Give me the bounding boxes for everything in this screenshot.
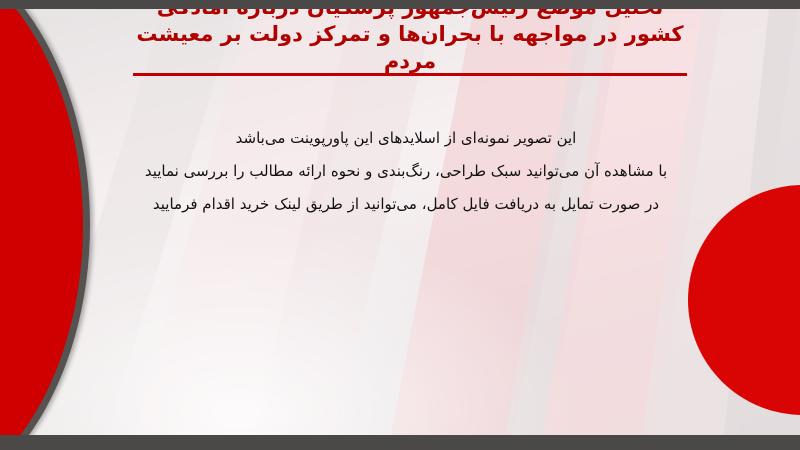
- decor-red-circle-right: [688, 185, 800, 415]
- slide-body-line-2: با مشاهده آن می‌توانید سبک طراحی، رنگ‌بن…: [120, 155, 692, 188]
- presentation-slide: تحلیل موضع رئیس‌جمهور پزشکیان درباره آما…: [0, 0, 800, 450]
- slide-body-line-3: در صورت تمایل به دریافت فایل کامل، می‌تو…: [120, 188, 692, 221]
- slide-frame-bottom: [0, 435, 800, 450]
- slide-body-line-1: این تصویر نمونه‌ای از اسلایدهای این پاور…: [120, 122, 692, 155]
- slide-body: این تصویر نمونه‌ای از اسلایدهای این پاور…: [120, 122, 692, 221]
- slide-frame-top: [0, 0, 800, 9]
- slide-title-line-3: مردم: [110, 48, 710, 75]
- slide-title-line-2: کشور در مواجهه با بحران‌ها و تمرکز دولت …: [110, 21, 710, 48]
- slide-title: تحلیل موضع رئیس‌جمهور پزشکیان درباره آما…: [110, 0, 710, 75]
- slide-title-underline: [133, 73, 687, 76]
